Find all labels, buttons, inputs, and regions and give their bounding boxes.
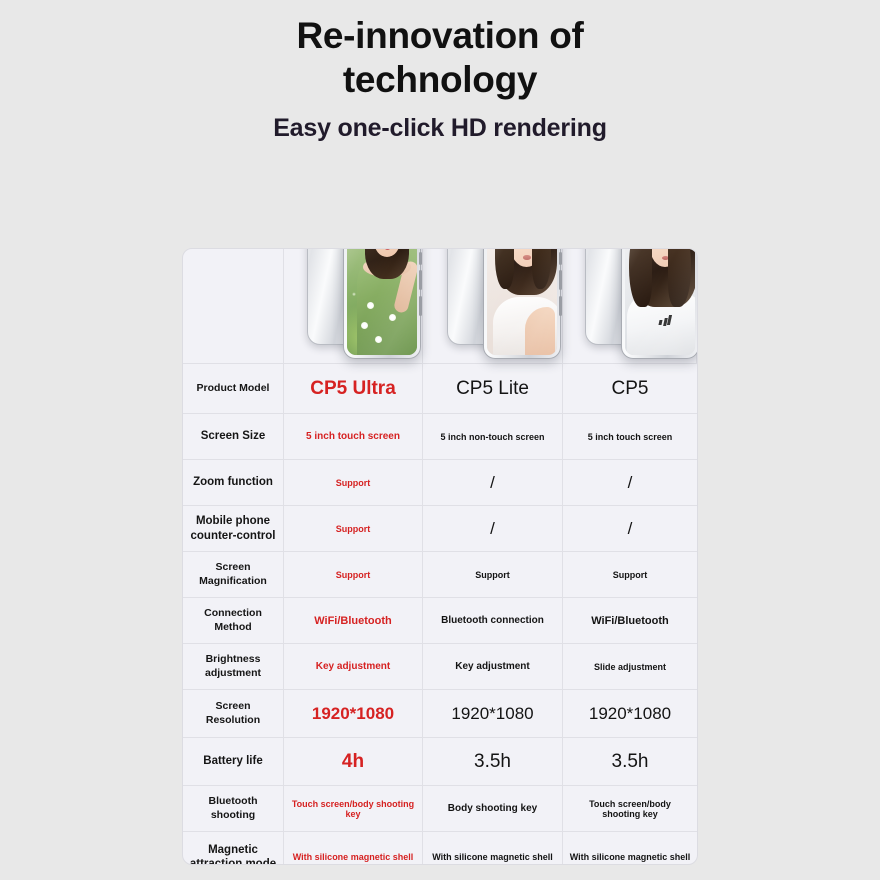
row-label: Zoom function [193,475,273,489]
phone-side-button [697,270,698,290]
cell-lite: 5 inch non-touch screen [423,414,563,459]
cell-base: Touch screen/body shooting key [563,786,697,831]
phone-side-button [559,270,562,290]
cell-ultra: WiFi/Bluetooth [284,598,423,643]
cell-value: 5 inch touch screen [306,431,400,442]
product-comparison-table: Product Model CP5 Ultra CP5 Lite CP5 Scr… [182,248,698,865]
row-label: Product Model [197,382,270,395]
cp5-phone-image [579,248,698,367]
cell-value: CP5 [612,378,649,400]
apparel-logo-icon [659,315,672,325]
phone-side-button [559,296,562,316]
table-row-bluetooth-shooting: Bluetooth shooting Touch screen/body sho… [183,786,697,832]
cell-value: CP5 Ultra [310,378,396,400]
cell-value: Support [336,478,371,488]
table-row-screen-magnification: Screen Magnification Support Support Sup… [183,552,697,598]
phone-side-button [697,296,698,316]
cell-ultra: Support [284,506,423,551]
image-row-label-cell [183,249,284,363]
table-row-screen-size: Screen Size 5 inch touch screen 5 inch n… [183,414,697,460]
cell-value: / [628,473,633,493]
cell-base: CP5 [563,364,697,413]
cell-base: / [563,460,697,505]
row-label-cell: Mobile phone counter-control [183,506,284,551]
phone-side-button [419,270,422,290]
cell-value: Key adjustment [316,661,390,672]
cell-value: / [490,519,495,539]
cell-ultra: Key adjustment [284,644,423,689]
row-label: Mobile phone counter-control [189,514,277,543]
cell-base: 5 inch touch screen [563,414,697,459]
row-label-cell: Zoom function [183,460,284,505]
cell-base: With silicone magnetic shell [563,832,697,865]
cell-value: Touch screen/body shooting key [569,799,691,819]
row-label-cell: Magnetic attraction mode [183,832,284,865]
cell-value: / [490,473,495,493]
cell-base: 1920*1080 [563,690,697,737]
cell-value: 1920*1080 [312,704,394,724]
cell-value: / [628,519,633,539]
cell-value: Support [336,524,371,534]
cell-value: Bluetooth connection [441,615,544,626]
cell-value: With silicone magnetic shell [293,852,413,862]
cell-value: CP5 Lite [456,378,529,400]
cell-base: Support [563,552,697,597]
row-label-cell: Screen Magnification [183,552,284,597]
cell-base: Slide adjustment [563,644,697,689]
row-label: Magnetic attraction mode [189,843,277,865]
cell-value: Slide adjustment [594,662,666,672]
title-line-1: Re-innovation of [296,15,583,56]
cell-ultra: With silicone magnetic shell [284,832,423,865]
cell-lite: With silicone magnetic shell [423,832,563,865]
cell-ultra: 4h [284,738,423,785]
table-row-product-images [183,249,697,364]
cell-value: WiFi/Bluetooth [591,615,669,627]
cell-ultra: Support [284,552,423,597]
phone-screen [625,248,695,355]
cell-value: 1920*1080 [451,704,533,724]
cell-value: Support [475,570,510,580]
cell-value: Support [613,570,648,580]
cell-ultra: 1920*1080 [284,690,423,737]
cell-ultra: Touch screen/body shooting key [284,786,423,831]
phone-screen [487,248,557,355]
cell-value: 5 inch touch screen [588,432,673,442]
cell-value: 4h [342,751,364,773]
cp5-lite-phone-image [441,248,563,367]
row-label: Brightness adjustment [189,653,277,679]
cell-lite: Bluetooth connection [423,598,563,643]
row-label-cell: Screen Resolution [183,690,284,737]
table-row-brightness-adjustment: Brightness adjustment Key adjustment Key… [183,644,697,690]
cp5-ultra-phone-image [301,248,423,367]
table-row-product-model: Product Model CP5 Ultra CP5 Lite CP5 [183,364,697,414]
phone-side-button [419,296,422,316]
page-title: Re-innovation of technology [275,14,605,101]
cell-base: 3.5h [563,738,697,785]
row-label-cell: Bluetooth shooting [183,786,284,831]
cell-lite: Key adjustment [423,644,563,689]
cell-value: With silicone magnetic shell [570,852,690,862]
row-label: Screen Magnification [189,561,277,587]
table-row-screen-resolution: Screen Resolution 1920*1080 1920*1080 19… [183,690,697,738]
phone-side-button [559,252,562,265]
cell-ultra: Support [284,460,423,505]
cell-value: 5 inch non-touch screen [440,432,544,442]
cell-value: WiFi/Bluetooth [314,615,392,627]
phone-side-button [697,252,698,265]
table-row-magnetic-attraction-mode: Magnetic attraction mode With silicone m… [183,832,697,865]
row-label: Screen Resolution [189,700,277,726]
title-line-2: technology [343,59,537,100]
cell-value: 1920*1080 [589,704,671,724]
cell-value: 3.5h [474,751,511,773]
table-row-counter-control: Mobile phone counter-control Support / / [183,506,697,552]
cell-lite: Support [423,552,563,597]
row-label: Bluetooth shooting [189,795,277,821]
cell-lite: / [423,506,563,551]
cell-ultra: 5 inch touch screen [284,414,423,459]
phone-front-shell [343,248,421,359]
table-row-connection-method: Connection Method WiFi/Bluetooth Bluetoo… [183,598,697,644]
cell-value: Touch screen/body shooting key [290,799,416,819]
portrait-photo-green-dress [347,248,417,355]
row-label: Connection Method [189,607,277,633]
cell-lite: 1920*1080 [423,690,563,737]
table-row-battery-life: Battery life 4h 3.5h 3.5h [183,738,697,786]
table-row-zoom-function: Zoom function Support / / [183,460,697,506]
cell-value: Support [336,570,371,580]
row-label-cell: Battery life [183,738,284,785]
cell-lite: 3.5h [423,738,563,785]
cell-value: 3.5h [612,751,649,773]
portrait-photo-white-tee [625,248,695,355]
phone-screen [347,248,417,355]
phone-side-button [419,252,422,265]
cell-base: WiFi/Bluetooth [563,598,697,643]
row-label: Battery life [203,754,262,768]
cell-ultra: CP5 Ultra [284,364,423,413]
cell-lite: CP5 Lite [423,364,563,413]
row-label-cell: Screen Size [183,414,284,459]
row-label: Screen Size [201,429,266,443]
phone-front-shell [621,248,698,359]
row-label-cell: Product Model [183,364,284,413]
page-header: Re-innovation of technology Easy one-cli… [0,0,880,143]
cell-lite: / [423,460,563,505]
row-label-cell: Brightness adjustment [183,644,284,689]
row-label-cell: Connection Method [183,598,284,643]
cell-value: Key adjustment [455,661,529,672]
cell-value: With silicone magnetic shell [432,852,552,862]
portrait-photo-short-hair [487,248,557,355]
cell-base: / [563,506,697,551]
phone-front-shell [483,248,561,359]
cell-lite: Body shooting key [423,786,563,831]
cell-value: Body shooting key [448,803,537,814]
page-subtitle: Easy one-click HD rendering [0,114,880,143]
